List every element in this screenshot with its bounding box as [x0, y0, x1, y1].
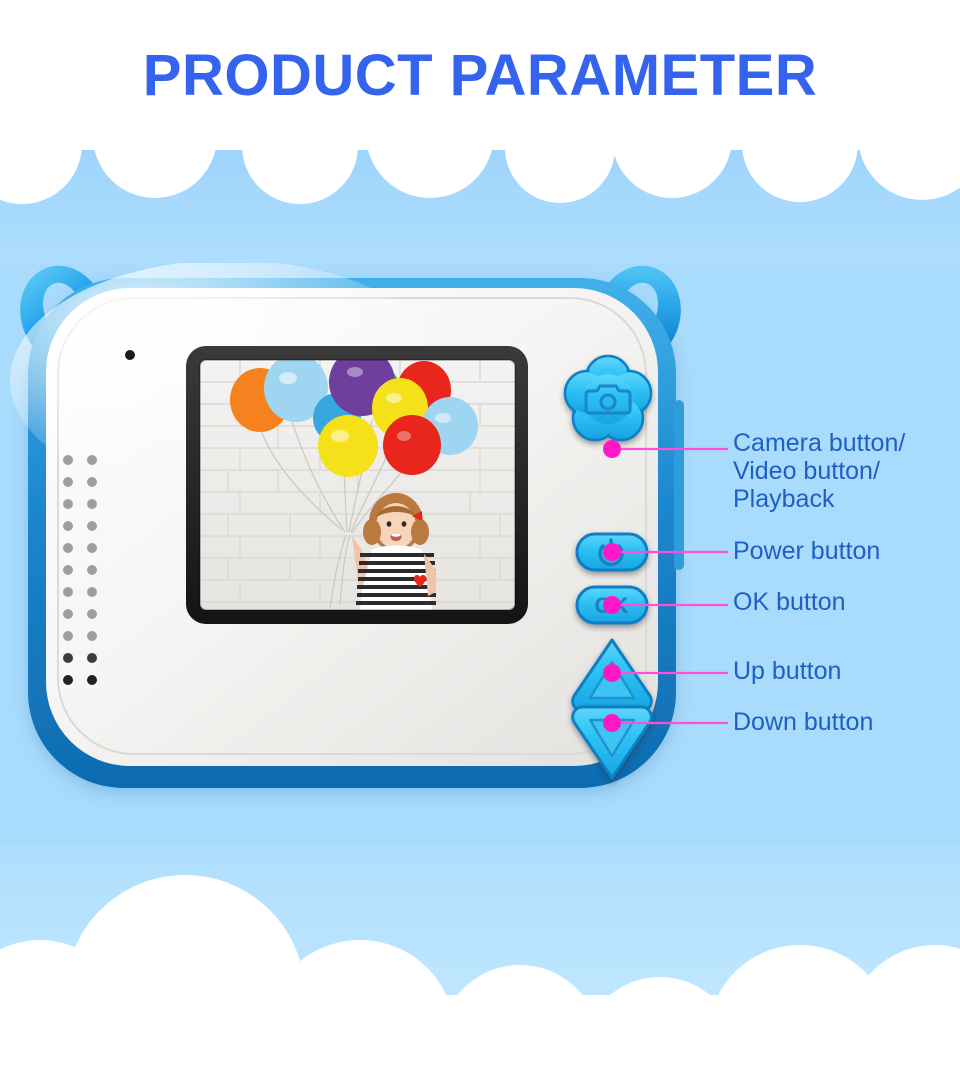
- marker-down: [603, 714, 621, 732]
- screen-display: [200, 348, 515, 610]
- callout-label-up: Up button: [733, 657, 841, 685]
- marker-ok: [603, 596, 621, 614]
- callout-label-down: Down button: [733, 708, 873, 736]
- status-led: [125, 350, 135, 360]
- marker-up: [603, 664, 621, 682]
- callout-label-camera-video-playback: Camera button/ Video button/ Playback: [733, 429, 905, 513]
- camera-illustration: OK: [0, 150, 960, 990]
- title-bar: PRODUCT PARAMETER: [0, 0, 960, 150]
- marker-camera: [603, 440, 621, 458]
- marker-power: [603, 543, 621, 561]
- side-trim-strip: [674, 400, 684, 570]
- callout-label-ok: OK button: [733, 588, 846, 616]
- callout-label-power: Power button: [733, 537, 880, 565]
- page-title: PRODUCT PARAMETER: [143, 42, 817, 109]
